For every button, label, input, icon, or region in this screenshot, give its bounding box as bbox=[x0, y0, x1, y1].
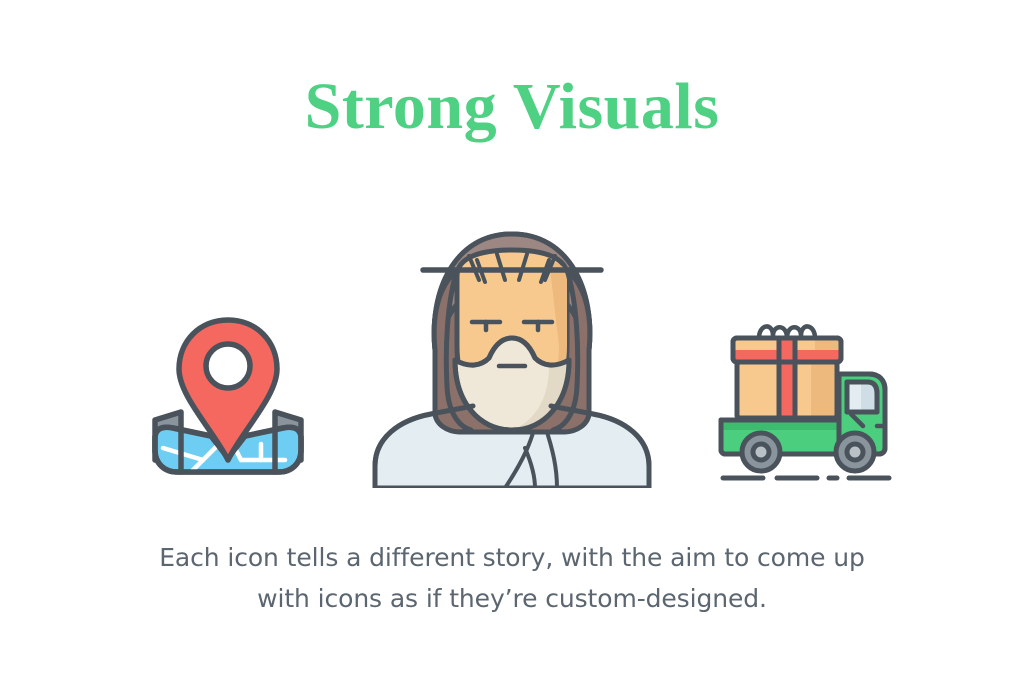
gift-truck-icon[interactable] bbox=[686, 188, 926, 488]
icon-row bbox=[0, 188, 1024, 488]
caption-line-1: Each icon tells a different story, with … bbox=[122, 538, 902, 579]
slide-root: Strong Visuals bbox=[0, 0, 1024, 685]
bearded-figure-icon[interactable] bbox=[362, 188, 662, 488]
caption: Each icon tells a different story, with … bbox=[122, 538, 902, 619]
map-pin-icon[interactable] bbox=[108, 188, 348, 488]
page-title: Strong Visuals bbox=[0, 72, 1024, 141]
gift-truck-icon-graphic bbox=[711, 308, 901, 488]
map-pin-icon-graphic bbox=[133, 308, 323, 488]
caption-line-2: with icons as if they’re custom-designed… bbox=[122, 579, 902, 620]
bearded-figure-icon-graphic bbox=[369, 198, 655, 488]
